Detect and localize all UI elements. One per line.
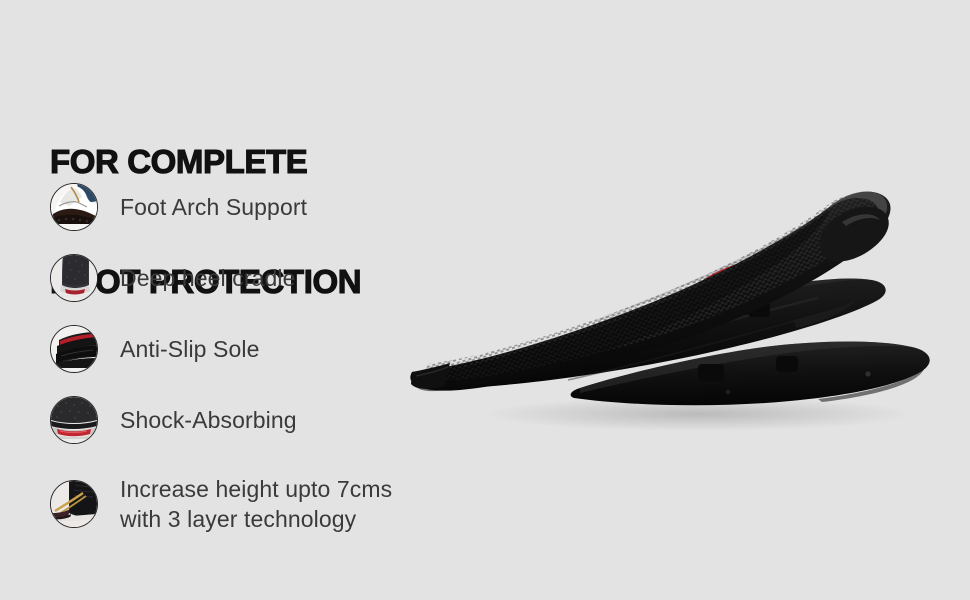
feature-label: Shock-Absorbing <box>120 405 297 435</box>
black-boot-laces-icon <box>50 480 98 528</box>
feature-label: Increase height upto 7cms with 3 layer t… <box>120 474 392 534</box>
page-title-line-1: FOR COMPLETE <box>50 142 361 182</box>
feature-label: Anti-Slip Sole <box>120 334 259 364</box>
feature-item-increase-height: Increase height upto 7cms with 3 layer t… <box>50 468 470 540</box>
infographic-canvas: FOR COMPLETE FOOT PROTECTION <box>0 0 970 600</box>
anti-slip-sole-icon <box>50 325 98 373</box>
heel-cup-icon <box>50 254 98 302</box>
feature-label: Foot Arch Support <box>120 192 307 222</box>
product-photo-insole <box>398 150 964 450</box>
shock-absorb-pad-icon <box>50 396 98 444</box>
feature-label: Deep heel cradle <box>120 263 296 293</box>
white-sneaker-arch-icon <box>50 183 98 231</box>
